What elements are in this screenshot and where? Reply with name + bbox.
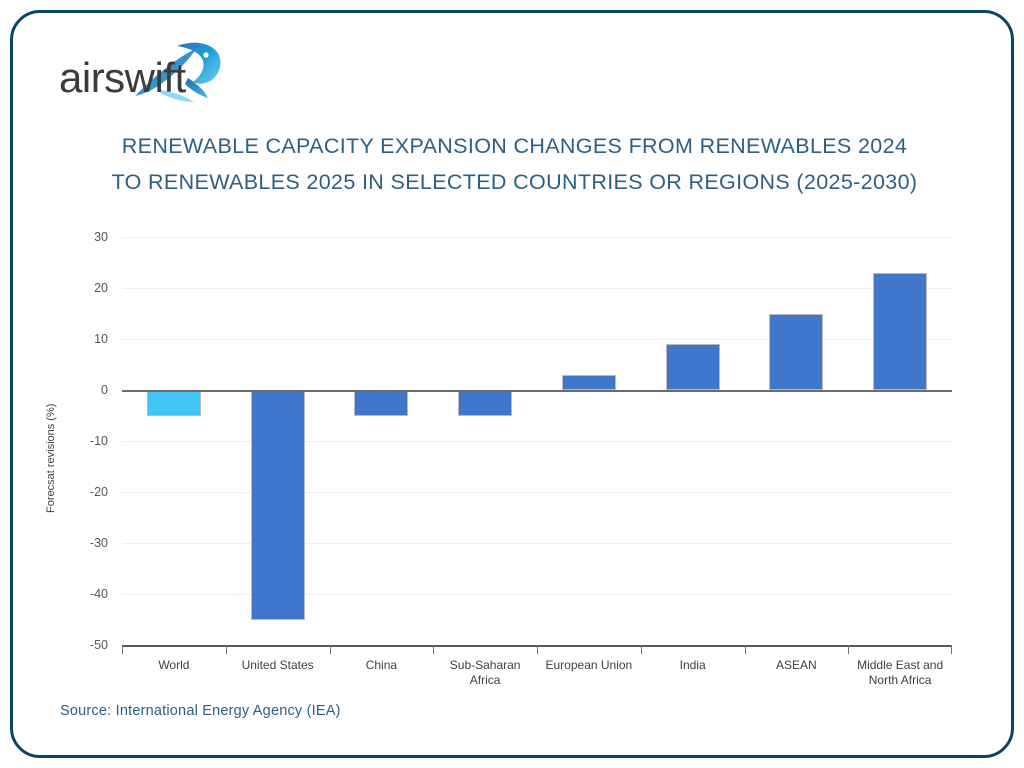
bar-world[interactable]	[147, 390, 201, 416]
x-axis-tick	[226, 645, 227, 654]
x-axis-tick	[641, 645, 642, 654]
x-tick-label: Sub-Saharan Africa	[433, 658, 537, 688]
bar-united-states[interactable]	[251, 390, 305, 620]
y-tick-label: -10	[90, 434, 108, 448]
gridline-30: 30	[122, 237, 952, 238]
bar-india[interactable]	[666, 344, 720, 390]
zero-axis-line: 0	[122, 390, 952, 392]
x-tick-label: World	[122, 658, 226, 673]
y-tick-label: -40	[90, 587, 108, 601]
x-tick-label: China	[330, 658, 434, 673]
bar-middle-east-and-north-africa[interactable]	[873, 273, 927, 390]
y-tick-label: -50	[90, 638, 108, 652]
bar-asean[interactable]	[769, 314, 823, 391]
gridline--40: -40	[122, 594, 952, 595]
y-axis-title: Forecsat revisions (%)	[42, 373, 60, 543]
y-tick-label: -20	[90, 485, 108, 499]
bar-sub-saharan-africa[interactable]	[458, 390, 512, 416]
gridline--10: -10	[122, 441, 952, 442]
bar-european-union[interactable]	[562, 375, 616, 390]
x-tick-label: Middle East and North Africa	[848, 658, 952, 688]
x-tick-label: India	[641, 658, 745, 673]
y-tick-label: 20	[94, 281, 108, 295]
svg-text:airswift: airswift	[59, 54, 187, 101]
x-axis-tick	[848, 645, 849, 654]
bar-chart: Forecsat revisions (%) 3020100-10-20-30-…	[44, 225, 974, 690]
x-tick-label: ASEAN	[745, 658, 849, 673]
y-tick-label: 30	[94, 230, 108, 244]
gridline--30: -30	[122, 543, 952, 544]
y-tick-label: -30	[90, 536, 108, 550]
slide-canvas: airswift RENEWABLE CAPACITY EXPANSION CH…	[0, 0, 1024, 768]
gridline--20: -20	[122, 492, 952, 493]
x-axis-end-tick	[122, 645, 123, 654]
x-tick-label: United States	[226, 658, 330, 673]
x-axis-end-tick	[951, 645, 952, 654]
x-axis-tick	[745, 645, 746, 654]
gridline-10: 10	[122, 339, 952, 340]
y-tick-label: 10	[94, 332, 108, 346]
x-tick-label: European Union	[537, 658, 641, 673]
page-title: RENEWABLE CAPACITY EXPANSION CHANGES FRO…	[62, 128, 967, 200]
airswift-logo: airswift	[57, 38, 242, 110]
plot-area: 3020100-10-20-30-40-50WorldUnited States…	[122, 237, 952, 645]
bar-china[interactable]	[354, 390, 408, 416]
source-note: Source: International Energy Agency (IEA…	[60, 703, 341, 719]
x-axis-tick	[330, 645, 331, 654]
x-axis-tick	[433, 645, 434, 654]
x-axis-tick	[537, 645, 538, 654]
y-tick-label: 0	[101, 383, 108, 397]
gridline-20: 20	[122, 288, 952, 289]
